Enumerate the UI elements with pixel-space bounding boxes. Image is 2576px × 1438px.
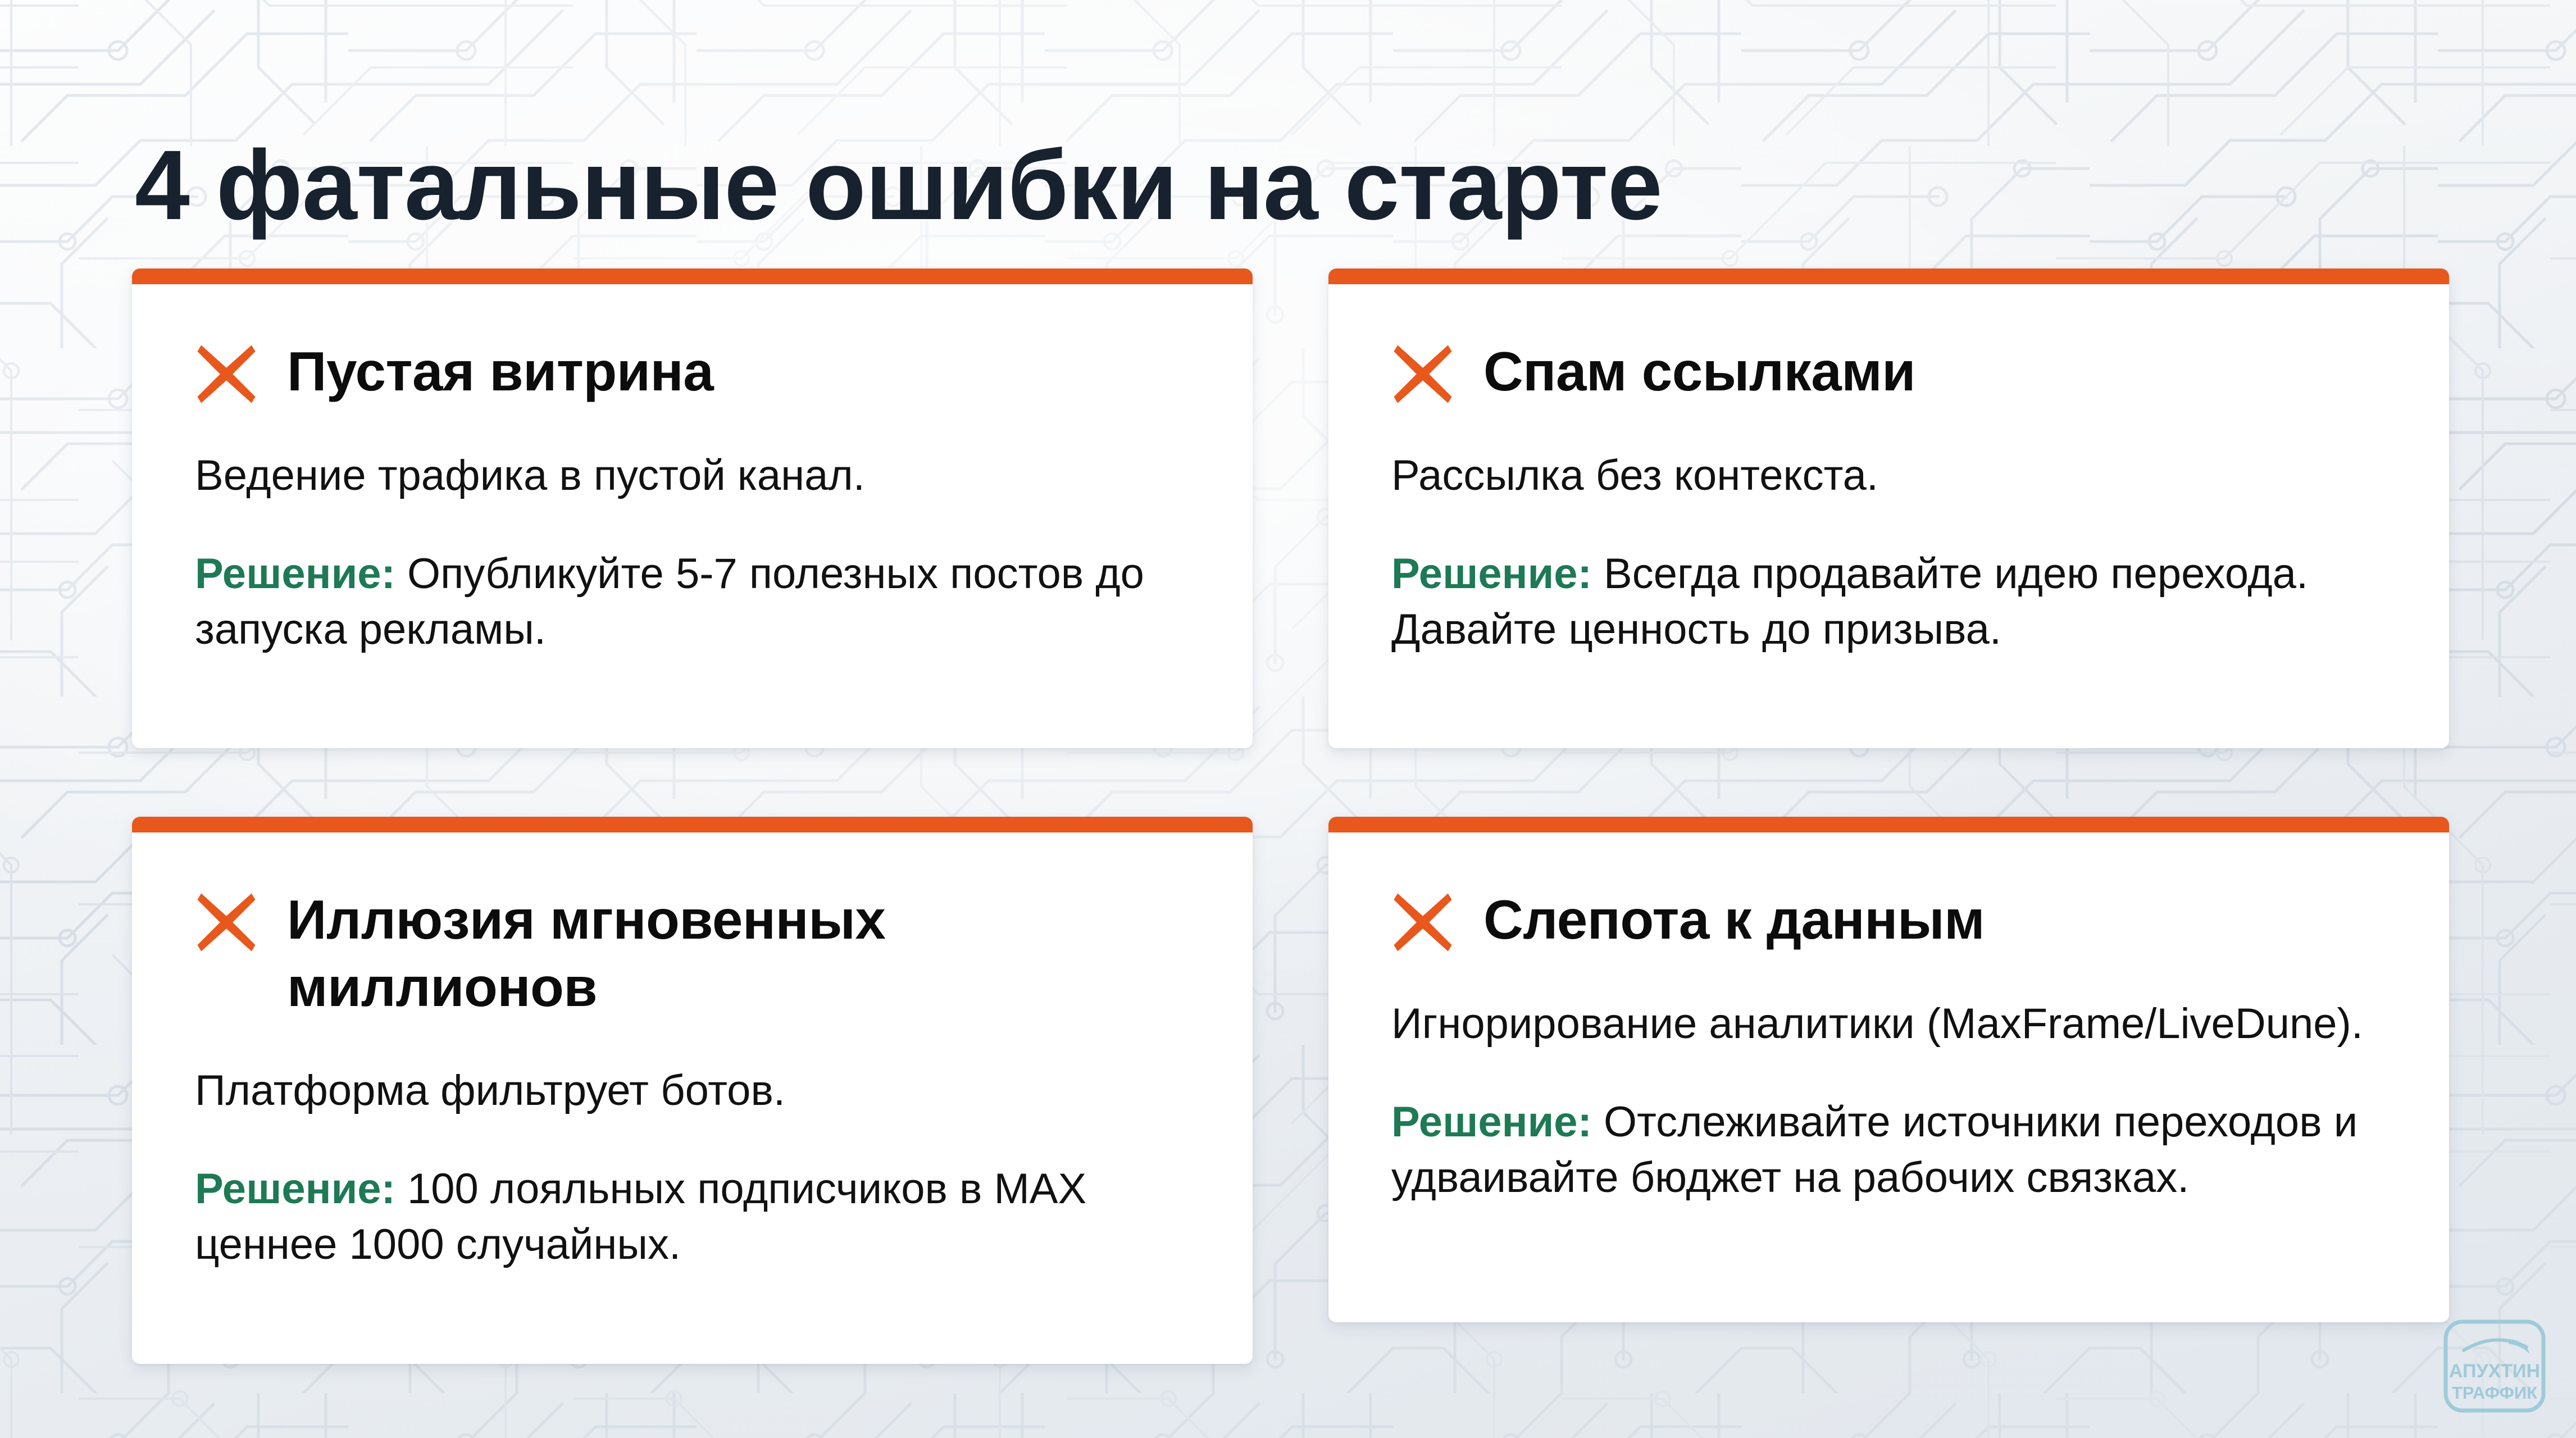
card-accent-bar — [132, 817, 1253, 832]
card-title: Слепота к данным — [1483, 886, 1985, 954]
card-title: Иллюзия мгновенных миллионов — [287, 886, 1190, 1021]
mistake-card: Пустая витрина Ведение трафика в пустой … — [132, 269, 1253, 748]
card-body: Пустая витрина Ведение трафика в пустой … — [132, 284, 1253, 748]
card-problem-text: Платформа фильтрует ботов. — [195, 1063, 1190, 1119]
card-problem-text: Игнорирование аналитики (MaxFrame/LiveDu… — [1391, 996, 2386, 1052]
mistake-card: Спам ссылками Рассылка без контекста. Ре… — [1328, 269, 2449, 748]
watermark-line-2: ТРАФФИК — [2452, 1383, 2537, 1403]
card-accent-bar — [1328, 269, 2449, 284]
card-solution-text: Решение: Отслеживайте источники переходо… — [1391, 1095, 2386, 1206]
mistake-card: Слепота к данным Игнорирование аналитики… — [1328, 817, 2449, 1322]
cross-icon — [1391, 343, 1454, 406]
card-problem-text: Рассылка без контекста. — [1391, 448, 2386, 504]
cross-icon — [195, 891, 258, 954]
card-header: Спам ссылками — [1391, 338, 2386, 406]
card-body: Слепота к данным Игнорирование аналитики… — [1328, 832, 2449, 1296]
card-body: Спам ссылками Рассылка без контекста. Ре… — [1328, 284, 2449, 748]
card-body: Иллюзия мгновенных миллионов Платформа ф… — [132, 832, 1253, 1363]
card-solution-text: Решение: Всегда продавайте идею перехода… — [1391, 547, 2386, 658]
cross-icon — [195, 343, 258, 406]
card-header: Пустая витрина — [195, 338, 1190, 406]
card-accent-bar — [132, 269, 1253, 284]
card-header: Слепота к данным — [1391, 886, 2386, 954]
card-solution-text: Решение: 100 лояльных подписчиков в MAX … — [195, 1162, 1190, 1273]
mistake-card: Иллюзия мгновенных миллионов Платформа ф… — [132, 817, 1253, 1363]
card-title: Пустая витрина — [287, 338, 713, 406]
card-problem-text: Ведение трафика в пустой канал. — [195, 448, 1190, 504]
cross-icon — [1391, 891, 1454, 954]
solution-label: Решение: — [195, 550, 395, 598]
card-title: Спам ссылками — [1483, 338, 1915, 406]
slide-root: 4 фатальные ошибки на старте Пустая витр… — [0, 0, 2576, 1438]
card-solution-text: Решение: Опубликуйте 5-7 полезных постов… — [195, 547, 1190, 658]
mistake-card-grid: Пустая витрина Ведение трафика в пустой … — [132, 269, 2449, 1364]
watermark-logo: АПУХТИН ТРАФФИК — [2442, 1319, 2547, 1413]
solution-label: Решение: — [1391, 550, 1592, 598]
card-accent-bar — [1328, 817, 2449, 832]
watermark-line-1: АПУХТИН — [2449, 1360, 2540, 1382]
solution-label: Решение: — [1391, 1098, 1592, 1146]
page-title: 4 фатальные ошибки на старте — [135, 134, 2157, 238]
solution-label: Решение: — [195, 1165, 395, 1213]
card-header: Иллюзия мгновенных миллионов — [195, 886, 1190, 1021]
